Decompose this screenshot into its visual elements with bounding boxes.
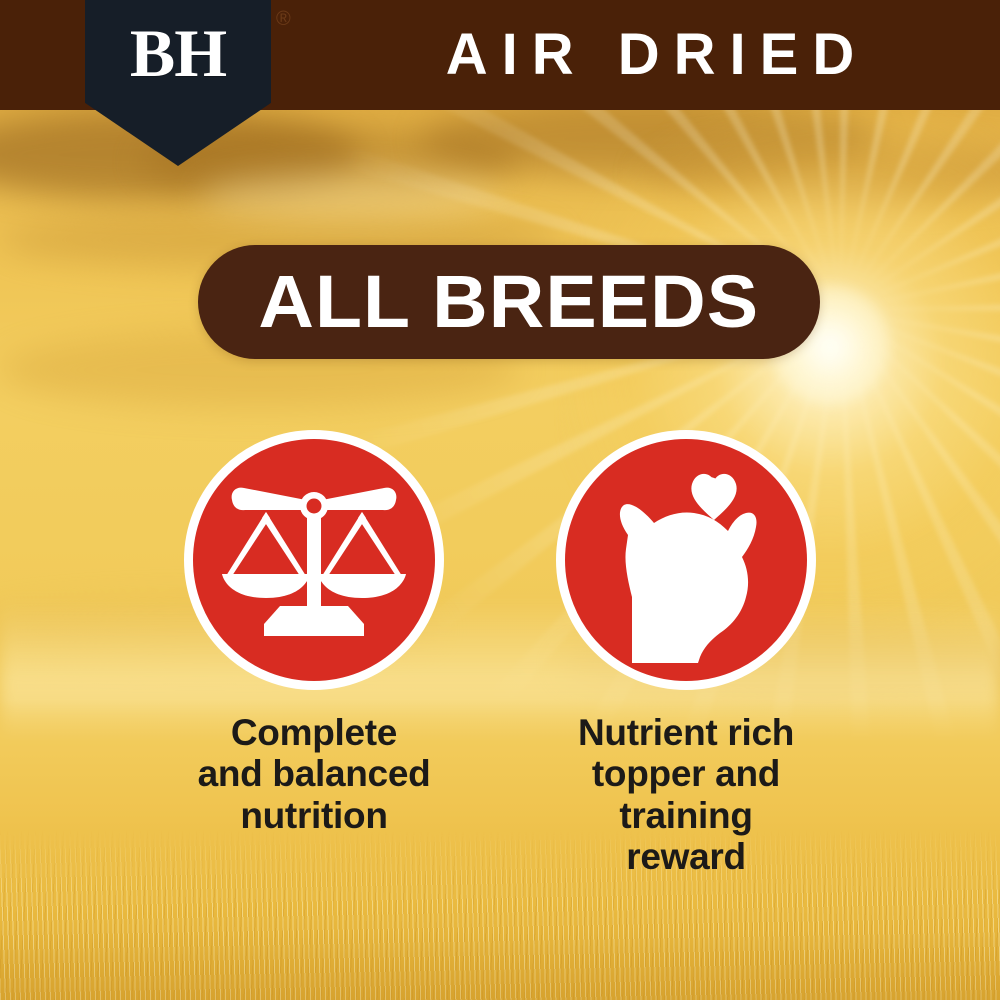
registered-trademark-icon: ®	[276, 8, 291, 31]
feature-item-complete-nutrition: Complete and balanced nutrition	[183, 430, 445, 950]
all-breeds-badge: ALL BREEDS	[198, 245, 820, 359]
feature-list: Complete and balanced nutrition Nutrient…	[0, 430, 1000, 950]
dog-head-heart-icon	[588, 457, 784, 663]
feature-caption: Complete and balanced nutrition	[198, 712, 431, 836]
feature-icon-circle	[184, 430, 444, 690]
header-headline: AIR DRIED	[300, 0, 1000, 110]
feature-item-nutrient-topper: Nutrient rich topper and training reward	[555, 430, 817, 950]
all-breeds-label: ALL BREEDS	[259, 265, 760, 339]
feature-icon-circle	[556, 430, 816, 690]
balance-scales-icon	[220, 476, 408, 644]
feature-caption: Nutrient rich topper and training reward	[555, 712, 817, 878]
product-feature-graphic: ® BH AIR DRIED ALL BREEDS	[0, 0, 1000, 1000]
headline-text: AIR DRIED	[432, 26, 868, 84]
brand-logo-text: BH	[130, 19, 226, 87]
